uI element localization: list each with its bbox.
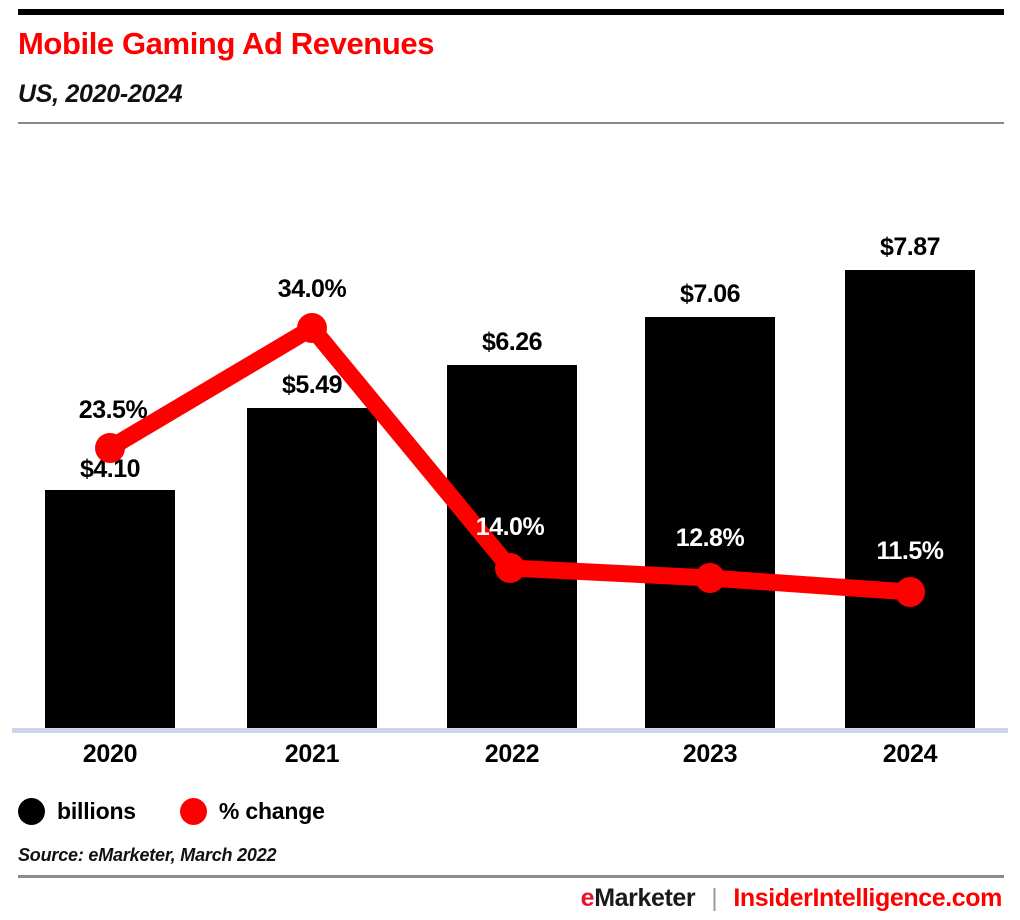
footer-divider (18, 875, 1004, 878)
bar-2020 (45, 490, 175, 728)
legend-item-percent-change: % change (180, 798, 325, 825)
bar-value-2020: $4.10 (30, 455, 190, 484)
xtick-2021: 2021 (232, 740, 392, 769)
chart-canvas: Mobile Gaming Ad Revenues US, 2020-2024 … (0, 0, 1020, 920)
legend-label-percent-change: % change (219, 798, 325, 825)
source-note: Source: eMarketer, March 2022 (18, 845, 276, 866)
footer-branding: eMarketer | InsiderIntelligence.com (581, 884, 1002, 913)
chart-legend: billions % change (18, 793, 369, 829)
brand-accent-letter: e (581, 884, 595, 912)
legend-item-billions: billions (18, 798, 136, 825)
pct-value-2024: 11.5% (825, 537, 995, 566)
line-point-2021 (297, 313, 327, 343)
footer-site-link[interactable]: InsiderIntelligence.com (733, 884, 1002, 913)
bar-value-2021: $5.49 (232, 371, 392, 400)
brand-name: Marketer (594, 884, 695, 912)
xtick-2023: 2023 (630, 740, 790, 769)
bar-value-2024: $7.87 (830, 233, 990, 262)
bar-value-2023: $7.06 (630, 280, 790, 309)
circle-red-icon (180, 798, 207, 825)
circle-black-icon (18, 798, 45, 825)
pct-value-2023: 12.8% (625, 524, 795, 553)
bar-value-2022: $6.26 (432, 328, 592, 357)
pct-value-2020: 23.5% (28, 396, 198, 425)
pct-value-2022: 14.0% (425, 513, 595, 542)
brand-emarketer: eMarketer (581, 884, 696, 913)
footer-pipe-divider: | (711, 884, 717, 913)
x-axis-line (12, 728, 1008, 733)
xtick-2024: 2024 (830, 740, 990, 769)
bar-2022 (447, 365, 577, 728)
plot-area: $4.10 $5.49 $6.26 $7.06 $7.87 23.5% 34.0… (0, 0, 1020, 920)
bar-2023 (645, 317, 775, 728)
legend-label-billions: billions (57, 798, 136, 825)
xtick-2020: 2020 (30, 740, 190, 769)
bar-2024 (845, 270, 975, 728)
xtick-2022: 2022 (432, 740, 592, 769)
bar-2021 (247, 408, 377, 728)
pct-value-2021: 34.0% (227, 275, 397, 304)
